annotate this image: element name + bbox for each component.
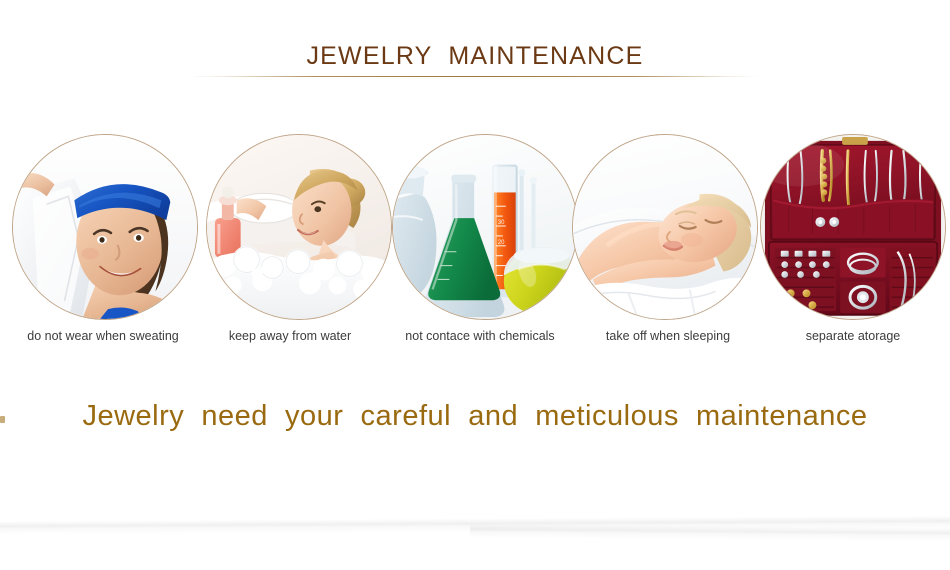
caption-water: keep away from water xyxy=(200,329,380,343)
edge-artifact-mark xyxy=(0,416,5,423)
svg-text:20: 20 xyxy=(498,240,505,246)
page-edge-shadow-left xyxy=(0,516,950,535)
caption-storage: separate atorage xyxy=(760,329,946,343)
page-title: JEWELRY MAINTENANCE xyxy=(0,42,950,71)
title-divider xyxy=(190,76,760,77)
woman-in-bubble-bath-photo xyxy=(206,134,392,320)
caption-chemicals: not contace with chemicals xyxy=(380,329,580,343)
care-card-water[interactable] xyxy=(206,134,392,320)
care-card-sweating[interactable] xyxy=(12,134,198,320)
woman-sleeping-on-pillow-photo xyxy=(572,134,758,320)
tagline: Jewelry need your careful and meticulous… xyxy=(0,400,950,433)
woman-with-sweatband-towel-photo xyxy=(12,134,198,320)
svg-text:30: 30 xyxy=(498,220,505,226)
care-card-sleeping[interactable] xyxy=(572,134,758,320)
jewelry-maintenance-banner: JEWELRY MAINTENANCE xyxy=(0,0,950,570)
care-card-chemicals[interactable]: 30 20 xyxy=(392,134,578,320)
page-edge-shadow-right xyxy=(470,524,950,542)
caption-sweating: do not wear when sweating xyxy=(0,329,206,343)
laboratory-glassware-flasks-photo: 30 20 xyxy=(392,134,578,320)
red-velvet-jewelry-box-photo xyxy=(760,134,946,320)
caption-sleeping: take off when sleeping xyxy=(578,329,758,343)
caption-row: do not wear when sweating keep away from… xyxy=(0,329,950,349)
care-card-storage[interactable] xyxy=(760,134,946,320)
care-icon-row: 30 20 xyxy=(0,134,950,320)
